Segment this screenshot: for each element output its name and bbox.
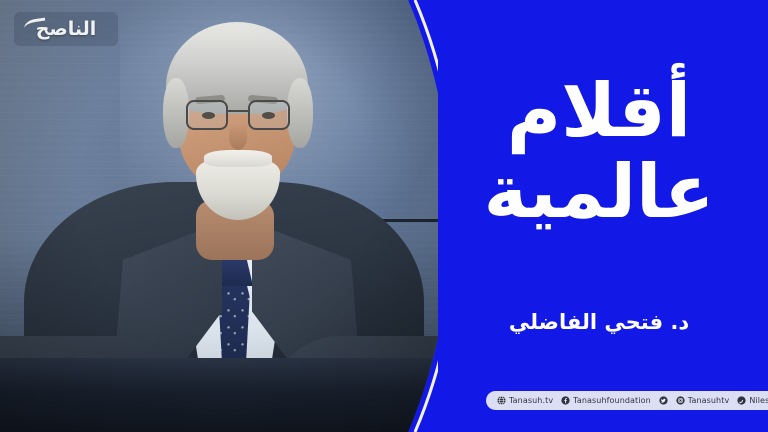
social-media-bar: Tanasuh.tv Tanasuhfoundation Tanas (486, 391, 768, 410)
program-title-panel: أقلام عالمية د. فتحي الفاضلي (438, 0, 768, 432)
eyeglass-lens-left (186, 100, 228, 130)
studio-desk (0, 358, 470, 432)
program-title-line-2: عالمية (438, 155, 760, 230)
social-label-website: Tanasuh.tv (509, 397, 553, 405)
guest-hair-side-right (287, 78, 313, 148)
video-pane (0, 0, 470, 432)
guest-name-label: د. فتحي الفاضلي (438, 310, 760, 334)
eyeglass-bridge (228, 110, 248, 112)
channel-logo-bug: الناصح (14, 12, 118, 46)
guest-nose (229, 124, 247, 150)
globe-icon (497, 396, 506, 405)
social-label-facebook: Tanasuhfoundation (573, 397, 651, 405)
eyeglass-lens-right (248, 100, 290, 130)
social-item-instagram[interactable]: Tanasuhtv (676, 396, 730, 405)
satellite-icon (737, 396, 746, 405)
facebook-icon (561, 396, 570, 405)
program-title: أقلام عالمية (438, 74, 760, 231)
program-title-line-1: أقلام (438, 74, 760, 149)
guest-moustache (204, 150, 272, 167)
social-label-instagram: Tanasuhtv (688, 397, 730, 405)
instagram-icon (676, 396, 685, 405)
social-item-satellite[interactable]: Nilesat 10873 V (737, 396, 768, 405)
social-item-website[interactable]: Tanasuh.tv (497, 396, 553, 405)
social-item-twitter[interactable] (659, 396, 668, 405)
social-item-facebook[interactable]: Tanasuhfoundation (561, 396, 651, 405)
twitter-icon (659, 396, 668, 405)
broadcast-frame: الناصح أقلام عالمية د. فتحي الفاضلي Tana… (0, 0, 768, 432)
social-label-satellite: Nilesat 10873 V (749, 397, 768, 405)
